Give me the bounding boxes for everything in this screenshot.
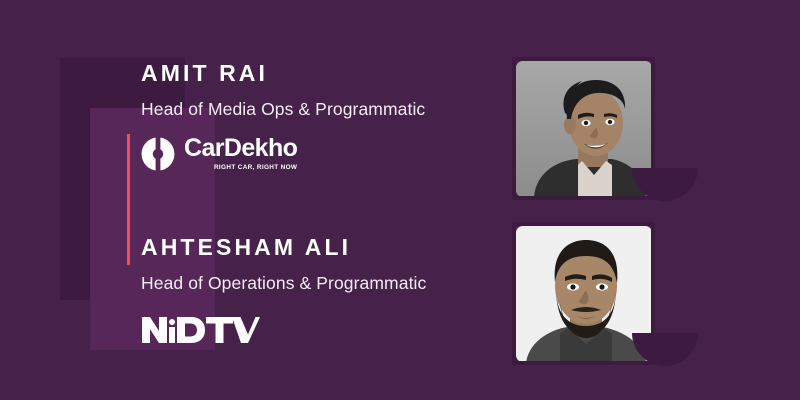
speaker-name: AHTESHAM ALI <box>141 232 491 262</box>
cardekho-tagline: RIGHT CAR, RIGHT NOW <box>184 163 297 173</box>
speaker-role: Head of Operations & Programmatic <box>141 270 491 296</box>
speaker-role: Head of Media Ops & Programmatic <box>141 96 491 122</box>
brand-logo-ndtv <box>141 310 491 354</box>
speaker-card-canvas: AMIT RAI Head of Media Ops & Programmati… <box>0 0 800 400</box>
ndtv-wordmark-icon <box>141 315 261 345</box>
speaker-entry: AMIT RAI Head of Media Ops & Programmati… <box>141 58 491 180</box>
cardekho-wordmark: CarDekho <box>184 135 297 162</box>
speaker-name: AMIT RAI <box>141 58 491 88</box>
brand-logo-cardekho: CarDekho RIGHT CAR, RIGHT NOW <box>141 136 491 180</box>
speaker-entry: AHTESHAM ALI Head of Operations & Progra… <box>141 232 491 354</box>
cardekho-mark-icon <box>141 137 175 171</box>
